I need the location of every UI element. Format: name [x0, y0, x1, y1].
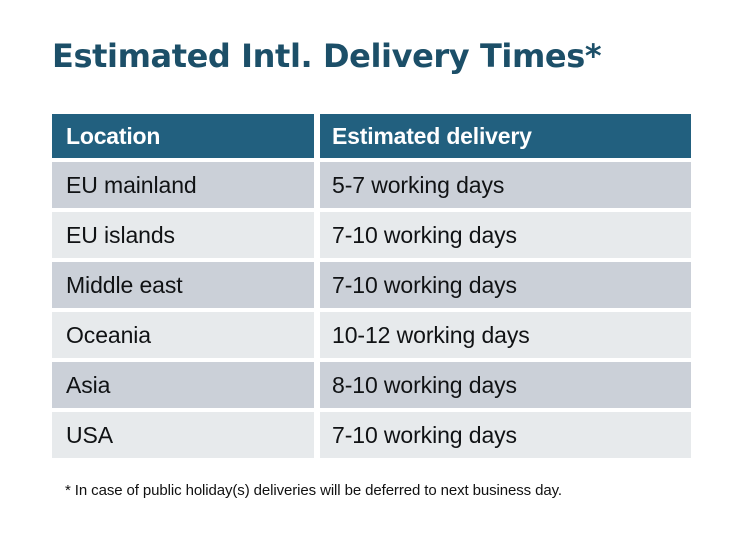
cell-location: USA	[52, 412, 314, 458]
table-row: EU islands 7-10 working days	[52, 212, 691, 258]
cell-estimated-delivery: 8-10 working days	[320, 362, 691, 408]
cell-location: Oceania	[52, 312, 314, 358]
cell-estimated-delivery: 7-10 working days	[320, 262, 691, 308]
cell-estimated-delivery: 10-12 working days	[320, 312, 691, 358]
table-row: Asia 8-10 working days	[52, 362, 691, 408]
table-row: Oceania 10-12 working days	[52, 312, 691, 358]
table-row: Middle east 7-10 working days	[52, 262, 691, 308]
delivery-times-card: Estimated Intl. Delivery Times* Location…	[0, 0, 745, 536]
cell-estimated-delivery: 7-10 working days	[320, 212, 691, 258]
table-header-row: Location Estimated delivery	[52, 114, 691, 158]
table-row: EU mainland 5-7 working days	[52, 162, 691, 208]
table-row: USA 7-10 working days	[52, 412, 691, 458]
footnote-public-holiday: * In case of public holiday(s) deliverie…	[65, 481, 562, 501]
column-header-location: Location	[52, 114, 314, 158]
cell-location: Middle east	[52, 262, 314, 308]
page-title: Estimated Intl. Delivery Times*	[52, 36, 601, 76]
delivery-times-table: Location Estimated delivery EU mainland …	[52, 114, 691, 458]
cell-location: EU mainland	[52, 162, 314, 208]
cell-location: EU islands	[52, 212, 314, 258]
cell-location: Asia	[52, 362, 314, 408]
cell-estimated-delivery: 5-7 working days	[320, 162, 691, 208]
cell-estimated-delivery: 7-10 working days	[320, 412, 691, 458]
column-header-estimated-delivery: Estimated delivery	[320, 114, 691, 158]
